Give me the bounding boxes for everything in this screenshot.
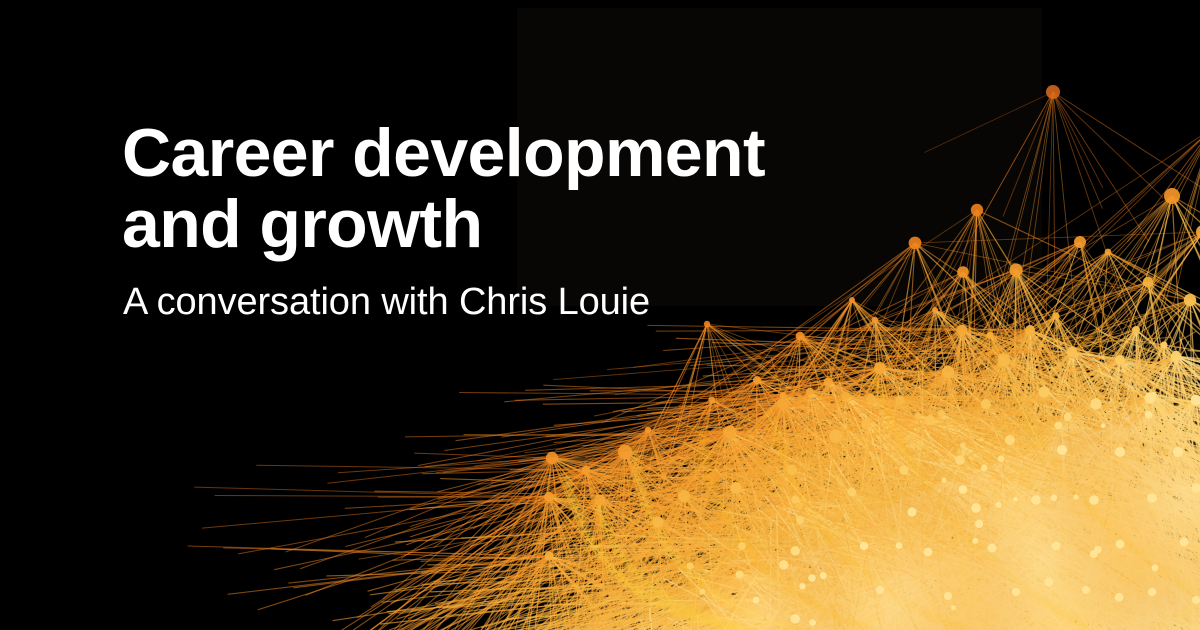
glow-arcs (566, 334, 1200, 630)
text-block: Career development and growth A conversa… (122, 118, 902, 325)
page-title: Career development and growth (122, 118, 902, 259)
bloom-layer (650, 340, 1200, 630)
page-subtitle: A conversation with Chris Louie (123, 281, 902, 325)
network-edges-bright (319, 330, 1200, 630)
social-card: Career development and growth A conversa… (0, 0, 1200, 630)
